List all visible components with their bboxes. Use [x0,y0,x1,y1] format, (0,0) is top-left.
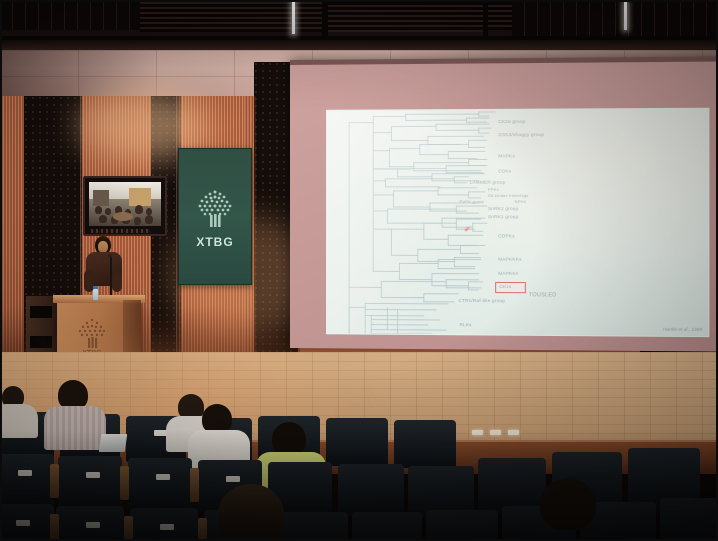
tree-leaf-label: PVPK group [459,199,483,204]
tree-leaf-label: NPH1 [515,199,527,204]
projection-screen: CK2α group GSK3/shaggy group MAPKs CDKs … [290,56,718,351]
seat [660,498,718,541]
seat [426,510,498,541]
presentation-slide: CK2α group GSK3/shaggy group MAPKs CDKs … [326,108,709,337]
tree-leaf-label-tousled: TOUSLED [529,292,557,298]
tree-leaf-label: RLKs [459,322,471,327]
tree-leaf-label: CDPKs [498,233,514,238]
tree-leaf-label-ck1s: CK1s [499,284,511,289]
seat [326,418,388,466]
seat [128,458,192,510]
monitor-bezel [91,229,151,233]
monitor-screen [89,182,161,226]
bottle-cap [93,286,98,289]
audience-seating [0,392,718,541]
seat [394,420,456,468]
seat [352,512,422,541]
ceiling [0,0,718,52]
tree-leaf-label: SnRK1 group [488,214,518,219]
ceiling-strip-light [292,2,295,34]
seat [58,456,122,508]
tree-leaf-label: SnRK2 group [488,206,518,211]
ceiling-strip-light [624,2,627,30]
tree-leaf-label: GSK3/shaggy group [498,132,544,137]
tree-leaf-label: CTR1/Raf-like group [458,298,505,303]
tree-leaf-label: CDKs [498,169,511,174]
tree-leaf-label: MAPKKs [498,271,518,276]
tree-leaf-label: LAMMER group [470,180,506,185]
laptop-screen[interactable] [99,434,128,452]
water-bottle [93,289,98,300]
microphone-icon [108,254,112,258]
tree-leaf-label: MAPKKKs [498,257,521,262]
slide-citation: Hardie et al., 1999 [663,327,702,332]
wall-monitor[interactable] [83,176,167,236]
seat [338,464,404,516]
seat [0,454,54,506]
tree-leaf-label: PPK1 [488,187,499,192]
tree-leaf-label: MAPKs [498,153,515,158]
auditorium-photo: XTBG [0,0,718,541]
banner-logo-text: XTBG [196,235,233,249]
tree-leaf-label: CK2α group [498,119,525,124]
tree-logo-icon [193,185,237,233]
xtbg-banner: XTBG [178,148,252,285]
phylogenetic-tree-graphic [327,109,708,336]
tree-leaf-label: S6 kinase homologs [488,193,529,198]
